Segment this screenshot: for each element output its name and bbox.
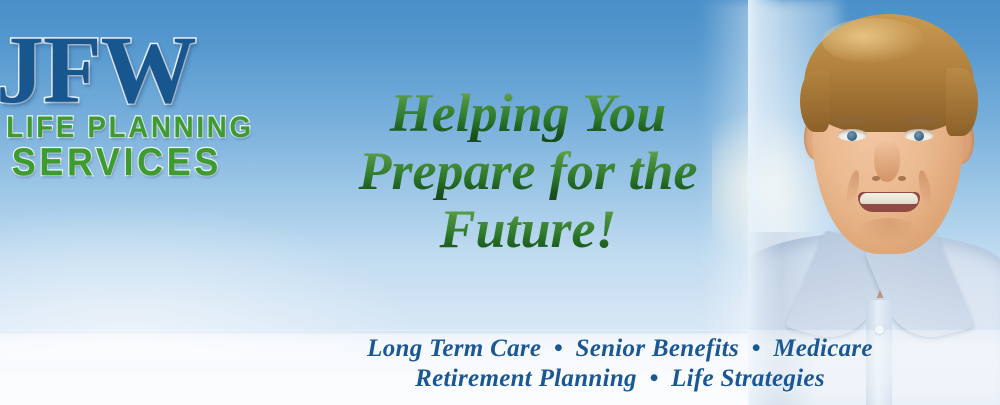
tagline-line-1: Helping You [318,84,738,142]
bullet-separator-icon: • [746,335,767,362]
service-senior-benefits[interactable]: Senior Benefits [575,335,739,362]
service-retirement-planning[interactable]: Retirement Planning [415,365,637,392]
hair-side-right [946,68,978,136]
tagline-line-3: Future! [318,200,738,258]
logo-subtitle-line1: LIFE PLANNING [0,112,262,144]
chin [856,218,920,244]
logo-initials: JFW [0,22,286,118]
iris-right [914,131,924,141]
iris-left [847,131,857,141]
service-medicare[interactable]: Medicare [773,335,873,362]
services-line-1: Long Term Care • Senior Benefits • Medic… [300,334,940,364]
company-logo[interactable]: JFW LIFE PLANNING SERVICES [0,22,286,202]
teeth [860,193,918,204]
nostril-left [872,176,880,181]
nostril-right [898,176,906,181]
bullet-separator-icon: • [643,365,664,392]
service-life-strategies[interactable]: Life Strategies [671,365,825,392]
logo-subtitle-line2: SERVICES [0,142,262,184]
services-list: Long Term Care • Senior Benefits • Medic… [300,334,940,394]
bullet-separator-icon: • [548,335,569,362]
tagline: Helping You Prepare for the Future! [318,84,738,258]
tagline-line-2: Prepare for the [318,142,738,200]
services-line-2: Retirement Planning • Life Strategies [300,364,940,394]
hair-side-left [800,70,830,132]
hair-highlight [822,18,926,64]
site-header-banner: JFW LIFE PLANNING SERVICES Helping You P… [0,0,1000,405]
service-long-term-care[interactable]: Long Term Care [367,335,541,362]
mouth [858,192,920,212]
